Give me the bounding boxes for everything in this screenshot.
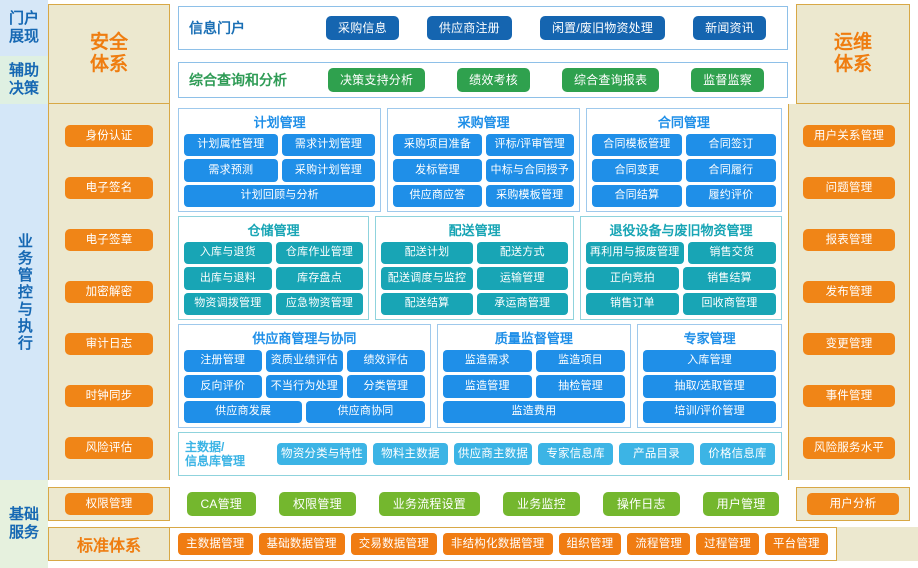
panel-button-row: 再利用与报废管理销售交货	[586, 242, 776, 264]
panel-button-销售结算[interactable]: 销售结算	[683, 267, 776, 289]
panel-button-供应商发展[interactable]: 供应商发展	[184, 401, 302, 423]
panel-button-评标-评审管理[interactable]: 评标/评审管理	[486, 134, 574, 156]
panel-button-入库管理[interactable]: 入库管理	[643, 350, 776, 372]
panel-button-row: 正向竞拍销售结算	[586, 267, 776, 289]
portal-strip-buttons: 采购信息供应商注册闲置/废旧物资处理新闻资讯	[315, 16, 777, 40]
panel-button-row: 计划回顾与分析	[184, 185, 375, 207]
panel-button-row: 培训/评价管理	[643, 401, 776, 423]
panel-button-row: 出库与退料库存盘点	[184, 267, 363, 289]
ops-system-title: 运维体系	[834, 32, 872, 77]
aux-strip: 综合查询和分析 决策支持分析绩效考核综合查询报表监督监察	[178, 62, 788, 98]
portal-button-闲置-废旧物资处理[interactable]: 闲置/废旧物资处理	[540, 16, 665, 40]
panel-计划管理: 计划管理计划属性管理需求计划管理需求预测采购计划管理计划回顾与分析	[178, 108, 381, 212]
base-orange-buttons: 主数据管理基础数据管理交易数据管理非结构化数据管理组织管理流程管理过程管理平台管…	[170, 527, 836, 561]
security-system-column: 安全体系	[48, 4, 170, 104]
panel-body-质量监督管理: 监造需求监造项目监造管理抽检管理监造费用	[443, 350, 626, 423]
panel-button-row: 合同变更合同履行	[592, 159, 776, 181]
panel-button-库存盘点[interactable]: 库存盘点	[276, 267, 364, 289]
panel-button-物资调拨管理[interactable]: 物资调拨管理	[184, 293, 272, 315]
panel-body-仓储管理: 入库与退货仓库作业管理出库与退料库存盘点物资调拨管理应急物资管理	[184, 242, 363, 315]
panel-质量监督管理: 质量监督管理监造需求监造项目监造管理抽检管理监造费用	[437, 324, 632, 428]
panel-button-绩效评估[interactable]: 绩效评估	[347, 350, 425, 372]
panel-row-3: 供应商管理与协同注册管理资质业绩评估绩效评估反向评价不当行为处理分类管理供应商发…	[178, 324, 782, 428]
panel-button-合同结算[interactable]: 合同结算	[592, 185, 682, 207]
panel-button-row: 采购项目准备评标/评审管理	[393, 134, 574, 156]
panel-button-需求预测[interactable]: 需求预测	[184, 159, 278, 181]
panel-button-不当行为处理[interactable]: 不当行为处理	[266, 375, 344, 397]
panel-title-合同管理: 合同管理	[592, 112, 776, 131]
panel-button-运输管理[interactable]: 运输管理	[477, 267, 568, 289]
panel-button-row: 反向评价不当行为处理分类管理	[184, 375, 425, 397]
base-services-band: 基础服务 权限管理 CA管理权限管理业务流程设置业务监控操作日志用户管理 用户分…	[0, 480, 918, 568]
panel-row-2: 仓储管理入库与退货仓库作业管理出库与退料库存盘点物资调拨管理应急物资管理配送管理…	[178, 216, 782, 320]
rail-label-base: 基础服务	[0, 480, 48, 568]
standard-system-label: 标准体系	[48, 527, 170, 561]
security-item-电子签名[interactable]: 电子签名	[65, 177, 153, 199]
panel-button-row: 监造管理抽检管理	[443, 375, 626, 397]
master-data-button-价格信息库[interactable]: 价格信息库	[700, 443, 775, 465]
panel-title-仓储管理: 仓储管理	[184, 220, 363, 239]
panel-button-培训-评价管理[interactable]: 培训/评价管理	[643, 401, 776, 423]
panel-button-row: 配送调度与监控运输管理	[381, 267, 568, 289]
panel-body-供应商管理与协同: 注册管理资质业绩评估绩效评估反向评价不当行为处理分类管理供应商发展供应商协同	[184, 350, 425, 423]
base-green-button-用户管理[interactable]: 用户管理	[703, 492, 780, 516]
panel-button-row: 注册管理资质业绩评估绩效评估	[184, 350, 425, 372]
panel-button-row: 入库管理	[643, 350, 776, 372]
panel-button-监造费用[interactable]: 监造费用	[443, 401, 626, 423]
panel-body-采购管理: 采购项目准备评标/评审管理发标管理中标与合同授予供应商应答采购模板管理	[393, 134, 574, 207]
ops-item-变更管理[interactable]: 变更管理	[803, 333, 895, 355]
panel-button-合同变更[interactable]: 合同变更	[592, 159, 682, 181]
panel-button-仓库作业管理[interactable]: 仓库作业管理	[276, 242, 364, 264]
panel-button-入库与退货[interactable]: 入库与退货	[184, 242, 272, 264]
panel-button-监造项目[interactable]: 监造项目	[536, 350, 625, 372]
panel-title-配送管理: 配送管理	[381, 220, 568, 239]
panel-button-配送方式[interactable]: 配送方式	[477, 242, 568, 264]
panel-button-回收商管理[interactable]: 回收商管理	[683, 293, 776, 315]
security-rail: 身份认证电子签名电子签章加密解密审计日志时钟同步风险评估	[48, 104, 170, 480]
panel-button-计划属性管理[interactable]: 计划属性管理	[184, 134, 278, 156]
panel-button-反向评价[interactable]: 反向评价	[184, 375, 262, 397]
panel-button-发标管理[interactable]: 发标管理	[393, 159, 481, 181]
panel-button-合同模板管理[interactable]: 合同模板管理	[592, 134, 682, 156]
panel-button-row: 配送计划配送方式	[381, 242, 568, 264]
business-main: 计划管理计划属性管理需求计划管理需求预测采购计划管理计划回顾与分析采购管理采购项…	[170, 104, 788, 480]
security-item-时钟同步[interactable]: 时钟同步	[65, 385, 153, 407]
aux-strip-buttons: 决策支持分析绩效考核综合查询报表监督监察	[315, 68, 777, 92]
base-orange-button-平台管理[interactable]: 平台管理	[765, 533, 828, 555]
panel-仓储管理: 仓储管理入库与退货仓库作业管理出库与退料库存盘点物资调拨管理应急物资管理	[178, 216, 369, 320]
panel-button-row: 物资调拨管理应急物资管理	[184, 293, 363, 315]
panel-button-row: 抽取/选取管理	[643, 375, 776, 397]
security-item-身份认证[interactable]: 身份认证	[65, 125, 153, 147]
panel-button-row: 入库与退货仓库作业管理	[184, 242, 363, 264]
master-data-button-供应商主数据[interactable]: 供应商主数据	[454, 443, 532, 465]
architecture-diagram: 安全体系 运维体系 门户展现 信息门户 采购信息供应商注册闲置/废旧物资处理新闻…	[0, 0, 918, 568]
panel-button-销售交货[interactable]: 销售交货	[688, 242, 777, 264]
portal-button-供应商注册[interactable]: 供应商注册	[427, 16, 512, 40]
master-data-buttons: 物资分类与特性物料主数据供应商主数据专家信息库产品目录价格信息库	[277, 443, 775, 465]
base-green-button-业务流程设置[interactable]: 业务流程设置	[379, 492, 480, 516]
ops-item-用户关系管理[interactable]: 用户关系管理	[803, 125, 895, 147]
panel-供应商管理与协同: 供应商管理与协同注册管理资质业绩评估绩效评估反向评价不当行为处理分类管理供应商发…	[178, 324, 431, 428]
ops-item-事件管理[interactable]: 事件管理	[803, 385, 895, 407]
aux-strip-title: 综合查询和分析	[189, 70, 315, 90]
panel-button-row: 供应商发展供应商协同	[184, 401, 425, 423]
panel-button-采购项目准备[interactable]: 采购项目准备	[393, 134, 481, 156]
panel-button-row: 监造需求监造项目	[443, 350, 626, 372]
ops-item-问题管理[interactable]: 问题管理	[803, 177, 895, 199]
security-item-permission[interactable]: 权限管理	[65, 493, 153, 515]
master-data-strip: 主数据/信息库管理 物资分类与特性物料主数据供应商主数据专家信息库产品目录价格信…	[178, 432, 782, 476]
base-green-button-业务监控[interactable]: 业务监控	[503, 492, 580, 516]
panel-button-配送结算[interactable]: 配送结算	[381, 293, 472, 315]
master-data-button-产品目录[interactable]: 产品目录	[619, 443, 694, 465]
panel-button-承运商管理[interactable]: 承运商管理	[477, 293, 568, 315]
master-data-title: 主数据/信息库管理	[185, 440, 271, 469]
security-item-风险评估[interactable]: 风险评估	[65, 437, 153, 459]
panel-button-资质业绩评估[interactable]: 资质业绩评估	[266, 350, 344, 372]
panel-button-row: 配送结算承运商管理	[381, 293, 568, 315]
ops-item-报表管理[interactable]: 报表管理	[803, 229, 895, 251]
panel-title-采购管理: 采购管理	[393, 112, 574, 131]
panel-body-专家管理: 入库管理抽取/选取管理培训/评价管理	[643, 350, 776, 423]
base-orange-button-流程管理[interactable]: 流程管理	[627, 533, 690, 555]
aux-button-绩效考核[interactable]: 绩效考核	[457, 68, 530, 92]
panel-button-row: 供应商应答采购模板管理	[393, 185, 574, 207]
aux-button-监督监察[interactable]: 监督监察	[691, 68, 764, 92]
master-data-button-物料主数据[interactable]: 物料主数据	[373, 443, 448, 465]
panel-body-配送管理: 配送计划配送方式配送调度与监控运输管理配送结算承运商管理	[381, 242, 568, 315]
base-green-button-操作日志[interactable]: 操作日志	[603, 492, 680, 516]
panel-button-合同履行[interactable]: 合同履行	[686, 159, 776, 181]
base-orange-button-非结构化数据管理[interactable]: 非结构化数据管理	[443, 533, 553, 555]
panel-button-供应商应答[interactable]: 供应商应答	[393, 185, 481, 207]
portal-button-新闻资讯[interactable]: 新闻资讯	[693, 16, 766, 40]
panel-button-中标与合同授予[interactable]: 中标与合同授予	[486, 159, 574, 181]
panel-title-供应商管理与协同: 供应商管理与协同	[184, 328, 425, 347]
panel-body-合同管理: 合同模板管理合同签订合同变更合同履行合同结算履约评价	[592, 134, 776, 207]
portal-strip-title: 信息门户	[189, 18, 315, 38]
base-orange-button-主数据管理[interactable]: 主数据管理	[178, 533, 253, 555]
panel-title-退役设备与废旧物资管理: 退役设备与废旧物资管理	[586, 220, 776, 239]
business-band: 业务管控与执行 身份认证电子签名电子签章加密解密审计日志时钟同步风险评估 计划管…	[0, 104, 918, 480]
panel-button-分类管理[interactable]: 分类管理	[347, 375, 425, 397]
ops-item-发布管理[interactable]: 发布管理	[803, 281, 895, 303]
panel-button-正向竞拍[interactable]: 正向竞拍	[586, 267, 679, 289]
panel-button-row: 需求预测采购计划管理	[184, 159, 375, 181]
base-green-button-权限管理[interactable]: 权限管理	[279, 492, 356, 516]
panel-button-row: 合同结算履约评价	[592, 185, 776, 207]
portal-strip: 信息门户 采购信息供应商注册闲置/废旧物资处理新闻资讯	[178, 6, 788, 50]
security-item-电子签章[interactable]: 电子签章	[65, 229, 153, 251]
panel-button-再利用与报废管理[interactable]: 再利用与报废管理	[586, 242, 684, 264]
rail-label-business: 业务管控与执行	[0, 104, 48, 480]
panel-button-采购模板管理[interactable]: 采购模板管理	[486, 185, 574, 207]
panel-body-计划管理: 计划属性管理需求计划管理需求预测采购计划管理计划回顾与分析	[184, 134, 375, 207]
panel-button-供应商协同[interactable]: 供应商协同	[306, 401, 424, 423]
security-system-title: 安全体系	[90, 32, 128, 77]
panel-button-抽检管理[interactable]: 抽检管理	[536, 375, 625, 397]
panel-button-应急物资管理[interactable]: 应急物资管理	[276, 293, 364, 315]
ops-item-风险服务水平[interactable]: 风险服务水平	[803, 437, 895, 459]
panel-button-row: 监造费用	[443, 401, 626, 423]
base-green-button-CA管理[interactable]: CA管理	[187, 492, 256, 516]
panel-button-合同签订[interactable]: 合同签订	[686, 134, 776, 156]
base-orange-button-交易数据管理[interactable]: 交易数据管理	[351, 533, 437, 555]
panel-button-注册管理[interactable]: 注册管理	[184, 350, 262, 372]
panel-button-配送调度与监控[interactable]: 配送调度与监控	[381, 267, 472, 289]
panel-title-专家管理: 专家管理	[643, 328, 776, 347]
panel-button-出库与退料[interactable]: 出库与退料	[184, 267, 272, 289]
base-orange-button-基础数据管理[interactable]: 基础数据管理	[259, 533, 345, 555]
panel-button-履约评价[interactable]: 履约评价	[686, 185, 776, 207]
panel-button-采购计划管理[interactable]: 采购计划管理	[282, 159, 376, 181]
panel-button-row: 发标管理中标与合同授予	[393, 159, 574, 181]
ops-item-user-analysis[interactable]: 用户分析	[807, 493, 899, 515]
panel-button-销售订单[interactable]: 销售订单	[586, 293, 679, 315]
panel-title-计划管理: 计划管理	[184, 112, 375, 131]
panel-body-退役设备与废旧物资管理: 再利用与报废管理销售交货正向竞拍销售结算销售订单回收商管理	[586, 242, 776, 315]
base-row-green: 权限管理 CA管理权限管理业务流程设置业务监控操作日志用户管理 用户分析	[48, 487, 918, 521]
panel-button-需求计划管理[interactable]: 需求计划管理	[282, 134, 376, 156]
base-services-main: 权限管理 CA管理权限管理业务流程设置业务监控操作日志用户管理 用户分析 标准体…	[48, 480, 918, 568]
panel-button-row: 合同模板管理合同签订	[592, 134, 776, 156]
panel-合同管理: 合同管理合同模板管理合同签订合同变更合同履行合同结算履约评价	[586, 108, 782, 212]
panel-button-配送计划[interactable]: 配送计划	[381, 242, 472, 264]
security-item-审计日志[interactable]: 审计日志	[65, 333, 153, 355]
base-orange-button-过程管理[interactable]: 过程管理	[696, 533, 759, 555]
panel-title-质量监督管理: 质量监督管理	[443, 328, 626, 347]
panel-退役设备与废旧物资管理: 退役设备与废旧物资管理再利用与报废管理销售交货正向竞拍销售结算销售订单回收商管理	[580, 216, 782, 320]
ops-system-column: 运维体系	[796, 4, 910, 104]
rail-label-portal: 门户展现	[0, 0, 48, 56]
base-row-standard: 标准体系 主数据管理基础数据管理交易数据管理非结构化数据管理组织管理流程管理过程…	[48, 527, 918, 561]
security-item-加密解密[interactable]: 加密解密	[65, 281, 153, 303]
portal-button-采购信息[interactable]: 采购信息	[326, 16, 399, 40]
panel-button-监造管理[interactable]: 监造管理	[443, 375, 532, 397]
ops-base-cell-blank	[836, 527, 918, 561]
master-data-button-物资分类与特性[interactable]: 物资分类与特性	[277, 443, 367, 465]
aux-button-决策支持分析[interactable]: 决策支持分析	[328, 68, 425, 92]
panel-采购管理: 采购管理采购项目准备评标/评审管理发标管理中标与合同授予供应商应答采购模板管理	[387, 108, 580, 212]
master-data-button-专家信息库[interactable]: 专家信息库	[538, 443, 613, 465]
panel-button-抽取-选取管理[interactable]: 抽取/选取管理	[643, 375, 776, 397]
panel-专家管理: 专家管理入库管理抽取/选取管理培训/评价管理	[637, 324, 782, 428]
panel-button-row: 计划属性管理需求计划管理	[184, 134, 375, 156]
base-orange-button-组织管理[interactable]: 组织管理	[559, 533, 622, 555]
panel-配送管理: 配送管理配送计划配送方式配送调度与监控运输管理配送结算承运商管理	[375, 216, 574, 320]
panel-button-计划回顾与分析[interactable]: 计划回顾与分析	[184, 185, 375, 207]
rail-label-aux: 辅助决策	[0, 56, 48, 104]
panel-button-监造需求[interactable]: 监造需求	[443, 350, 532, 372]
aux-button-综合查询报表[interactable]: 综合查询报表	[562, 68, 659, 92]
panel-button-row: 销售订单回收商管理	[586, 293, 776, 315]
base-green-buttons: CA管理权限管理业务流程设置业务监控操作日志用户管理	[170, 492, 796, 516]
security-base-cell: 权限管理	[48, 487, 170, 521]
ops-rail: 用户关系管理问题管理报表管理发布管理变更管理事件管理风险服务水平	[788, 104, 910, 480]
ops-base-cell: 用户分析	[796, 487, 910, 521]
panel-row-1: 计划管理计划属性管理需求计划管理需求预测采购计划管理计划回顾与分析采购管理采购项…	[178, 108, 782, 212]
